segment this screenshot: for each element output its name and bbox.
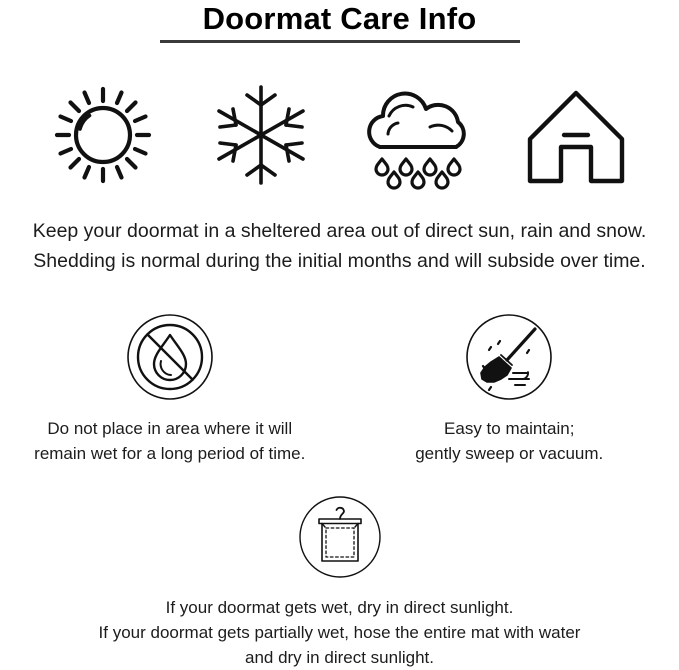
snowflake-icon: [198, 72, 324, 198]
drying-caption-line-2: If your doormat gets partially wet, hose…: [99, 620, 581, 645]
care-caption-line-2: remain wet for a long period of time.: [34, 441, 305, 466]
drying-caption-line-1: If your doormat gets wet, dry in direct …: [99, 595, 581, 620]
house-icon: [513, 72, 639, 198]
title-block: Doormat Care Info: [0, 0, 679, 43]
rain-cloud-icon: [355, 72, 481, 198]
care-caption-line-1: Do not place in area where it will: [34, 416, 305, 441]
intro-line-2: Shedding is normal during the initial mo…: [0, 246, 679, 276]
care-caption-sweep: Easy to maintain; gently sweep or vacuum…: [415, 416, 603, 466]
weather-icon-row: [0, 72, 679, 198]
intro-line-1: Keep your doormat in a sheltered area ou…: [0, 216, 679, 246]
drying-caption: If your doormat gets wet, dry in direct …: [99, 595, 581, 670]
drying-section: If your doormat gets wet, dry in direct …: [0, 492, 679, 670]
care-items-row: Do not place in area where it will remai…: [0, 312, 679, 466]
intro-paragraph: Keep your doormat in a sheltered area ou…: [0, 216, 679, 276]
page-title: Doormat Care Info: [0, 0, 679, 36]
sun-icon: [40, 72, 166, 198]
care-caption-no-water: Do not place in area where it will remai…: [34, 416, 305, 466]
hanging-mat-icon: [295, 492, 385, 582]
care-caption-line-2: gently sweep or vacuum.: [415, 441, 603, 466]
care-item-no-water: Do not place in area where it will remai…: [0, 312, 340, 466]
title-divider: [160, 40, 520, 43]
care-caption-line-1: Easy to maintain;: [415, 416, 603, 441]
broom-sweep-icon: [464, 312, 554, 402]
care-item-sweep: Easy to maintain; gently sweep or vacuum…: [340, 312, 679, 466]
no-water-icon: [125, 312, 215, 402]
drying-caption-line-3: and dry in direct sunlight.: [99, 645, 581, 670]
